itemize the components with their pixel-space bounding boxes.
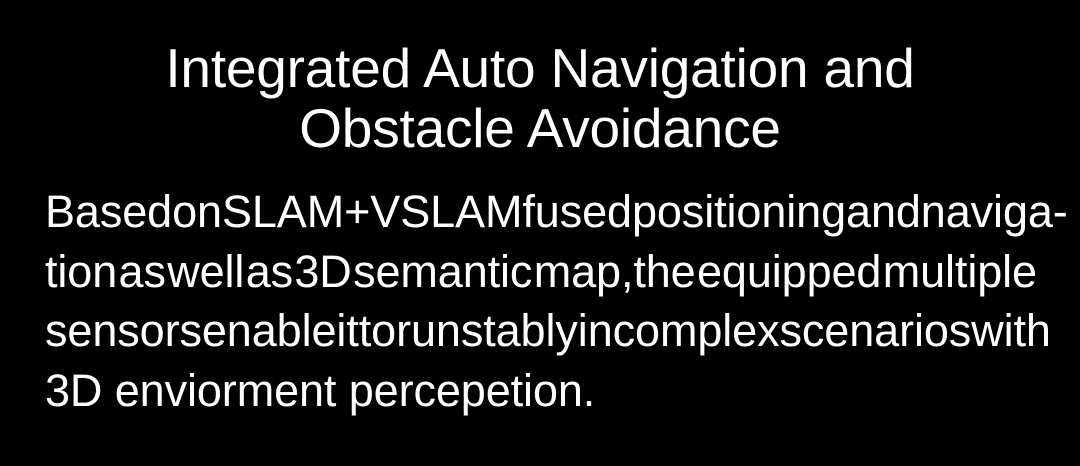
body-word: fused — [522, 182, 632, 242]
body-word: as — [246, 242, 293, 302]
body-word: scenarios — [780, 301, 972, 361]
body-word: on — [172, 182, 222, 242]
body-word: sensors — [45, 301, 202, 361]
body-line-3: sensorsenableittorunstablyincomplexscena… — [45, 301, 1037, 361]
body-line-2: tionaswellas3Dsemanticmap,theequippedmul… — [45, 242, 1037, 302]
body-word: map,the — [534, 242, 696, 302]
body-word: it — [336, 301, 358, 361]
body-word: enable — [202, 301, 337, 361]
body-line-1: BasedonSLAM+VSLAMfusedpositioningandnavi… — [45, 182, 1037, 242]
body-word: and — [846, 182, 921, 242]
body-word: complex — [613, 301, 780, 361]
body-word: naviga- — [921, 182, 1068, 242]
body-word: run — [396, 301, 461, 361]
body-word: stably — [461, 301, 578, 361]
body-word: tion — [45, 242, 117, 302]
body-word: well — [167, 242, 244, 302]
body-word: as — [119, 242, 166, 302]
body-word: positioning — [632, 182, 846, 242]
body-line-4: 3D enviorment percepetion. — [45, 361, 1037, 421]
body-word: 3D — [294, 242, 351, 302]
body-word: in — [578, 301, 613, 361]
body-word: equipped — [697, 242, 881, 302]
slide-body-text: BasedonSLAM+VSLAMfusedpositioningandnavi… — [45, 182, 1037, 420]
body-word: with — [971, 301, 1051, 361]
body-word: Based — [45, 182, 172, 242]
title-line-2: Obstacle Avoidance — [0, 98, 1080, 158]
title-line-1: Integrated Auto Navigation and — [0, 38, 1080, 98]
body-word: SLAM+VSLAM — [222, 182, 522, 242]
body-word: to — [359, 301, 396, 361]
body-word: semantic — [353, 242, 532, 302]
body-word: multiple — [883, 242, 1037, 302]
presentation-slide: Integrated Auto Navigation and Obstacle … — [0, 0, 1080, 466]
slide-title: Integrated Auto Navigation and Obstacle … — [0, 38, 1080, 158]
